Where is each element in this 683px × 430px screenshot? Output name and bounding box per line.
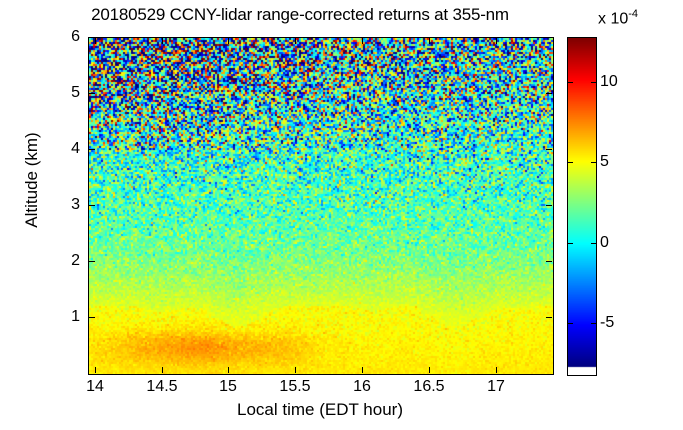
colorbar-exponent-base: x 10 [598,10,628,27]
x-tick-label: 17 [487,378,505,396]
x-tick-mark-top [228,38,229,44]
colorbar-tick-label: -5 [600,314,614,332]
y-tick-mark-right [546,37,552,38]
colorbar-tick-mark-right [591,162,596,163]
colorbar-exponent-power: -4 [628,8,638,20]
x-tick-mark [429,367,430,373]
x-tick-mark-top [295,38,296,44]
y-tick-label: 5 [54,84,80,102]
x-tick-mark [496,367,497,373]
colorbar-tick-mark-right [591,323,596,324]
plot-area [88,37,554,375]
y-tick-mark [89,37,95,38]
colorbar-tick-mark [568,162,573,163]
y-tick-label: 6 [54,28,80,46]
colorbar-tick-label: 0 [600,234,609,252]
colorbar-tick-mark [568,82,573,83]
colorbar-tick-mark-right [591,82,596,83]
heatmap-canvas [89,38,553,374]
chart-title: 20180529 CCNY-lidar range-corrected retu… [0,5,600,25]
colorbar-tick-label: 5 [600,153,609,171]
colorbar-tick-mark [568,243,573,244]
x-tick-label: 15.5 [279,378,310,396]
x-axis-label: Local time (EDT hour) [88,400,552,420]
x-tick-label: 14.5 [146,378,177,396]
y-tick-label: 3 [54,196,80,214]
y-tick-mark-right [546,205,552,206]
y-tick-mark-right [546,93,552,94]
x-tick-label: 16 [353,378,371,396]
y-tick-mark [89,261,95,262]
y-tick-label: 4 [54,140,80,158]
x-tick-mark-top [95,38,96,44]
x-tick-mark-top [362,38,363,44]
y-tick-mark [89,317,95,318]
x-tick-mark [162,367,163,373]
colorbar [567,37,597,376]
y-tick-mark-right [546,317,552,318]
x-tick-mark-top [162,38,163,44]
y-tick-mark [89,205,95,206]
y-tick-mark-right [546,149,552,150]
x-tick-mark-top [429,38,430,44]
y-tick-mark [89,93,95,94]
y-tick-mark-right [546,261,552,262]
colorbar-tick-mark-right [591,243,596,244]
x-tick-label: 16.5 [413,378,444,396]
x-tick-label: 15 [219,378,237,396]
colorbar-gradient [568,38,596,375]
x-tick-mark [362,367,363,373]
y-tick-label: 1 [54,308,80,326]
x-tick-mark [95,367,96,373]
colorbar-tick-label: 10 [600,73,618,91]
x-tick-mark-top [496,38,497,44]
x-tick-mark [228,367,229,373]
y-tick-label: 2 [54,252,80,270]
x-tick-mark [295,367,296,373]
colorbar-exponent-label: x 10-4 [598,8,638,28]
lidar-heatmap-figure: 20180529 CCNY-lidar range-corrected retu… [0,0,683,430]
colorbar-tick-mark [568,323,573,324]
x-tick-label: 14 [86,378,104,396]
y-tick-mark [89,149,95,150]
y-axis-label: Altitude (km) [22,100,42,260]
